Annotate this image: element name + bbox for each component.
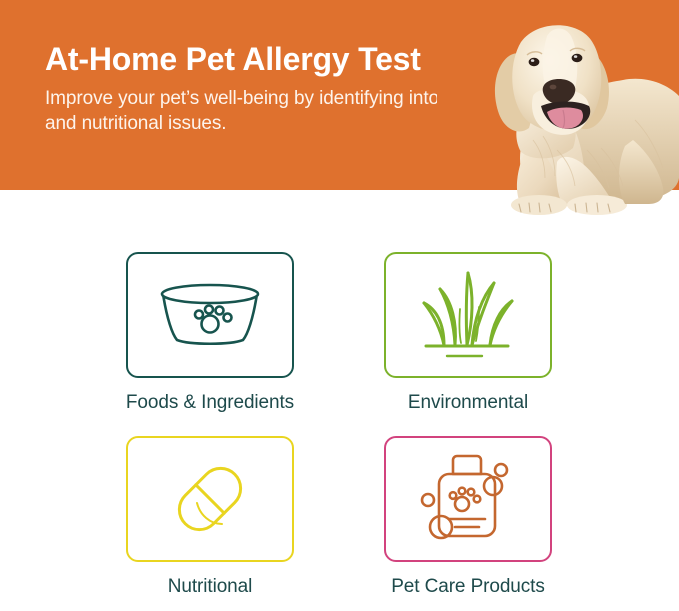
category-card-petcare[interactable] [384, 436, 552, 562]
page-title: At-Home Pet Allergy Test [45, 40, 515, 78]
category-card-foods[interactable] [126, 252, 294, 378]
hero-subtitle: Improve your pet’s well-being by identif… [45, 86, 515, 136]
category-row-1: Foods & Ingredients [124, 252, 554, 415]
pet-food-bowl-icon [150, 278, 270, 352]
category-card-environmental[interactable] [384, 252, 552, 378]
pet-allergy-test-infographic: At-Home Pet Allergy Test Improve your pe… [0, 0, 679, 611]
category-foods[interactable]: Foods & Ingredients [124, 252, 296, 415]
category-nutritional[interactable]: Nutritional [124, 436, 296, 599]
category-label-nutritional: Nutritional [168, 575, 252, 599]
category-petcare[interactable]: Pet Care Products [382, 436, 554, 599]
hero-banner: At-Home Pet Allergy Test Improve your pe… [0, 0, 679, 190]
shampoo-bottle-icon [417, 448, 519, 550]
category-label-petcare: Pet Care Products [391, 575, 545, 599]
pill-capsule-icon [160, 453, 260, 545]
category-environmental[interactable]: Environmental [382, 252, 554, 415]
category-label-environmental: Environmental [408, 391, 528, 415]
grass-blades-icon [416, 267, 520, 363]
category-grid: Foods & Ingredients [124, 252, 554, 599]
category-card-nutritional[interactable] [126, 436, 294, 562]
category-row-2: Nutritional [124, 436, 554, 599]
category-label-foods: Foods & Ingredients [126, 391, 294, 415]
hero-copy-block: At-Home Pet Allergy Test Improve your pe… [45, 40, 515, 136]
